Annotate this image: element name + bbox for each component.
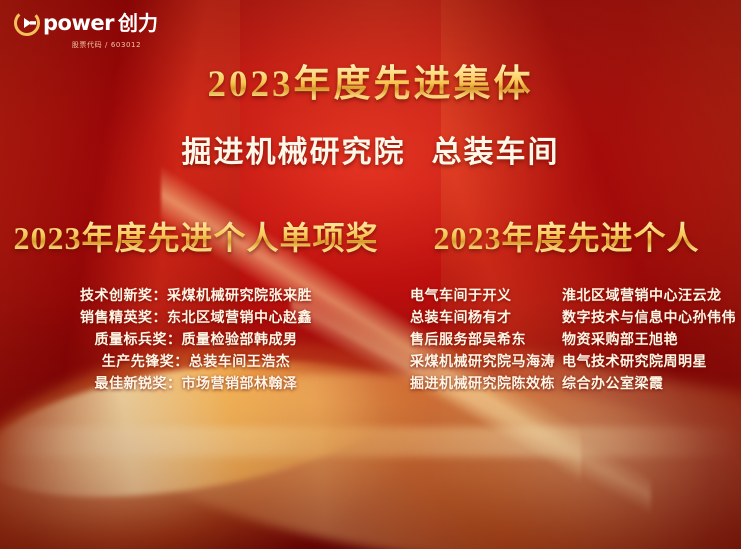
section-heading-special-awards: 2023年度先进个人单项奖	[0, 216, 392, 260]
individual-awards-list: 电气车间于开义 淮北区域营销中心汪云龙 总装车间杨有才 数字技术与信息中心孙伟伟…	[392, 286, 741, 396]
logo-wordmark: power	[43, 10, 114, 36]
winner-name: 物资采购部王旭艳	[562, 330, 741, 352]
award-poster: power 创力 股票代码 / 603012 2023年度先进集体 掘进机械研究…	[0, 0, 741, 549]
table-row: 总装车间杨有才 数字技术与信息中心孙伟伟	[392, 308, 741, 330]
table-row: 售后服务部吴希东 物资采购部王旭艳	[392, 330, 741, 352]
collective-winners: 掘进机械研究院总装车间	[0, 132, 741, 174]
winner-name: 淮北区域营销中心汪云龙	[562, 286, 741, 308]
award-columns: 技术创新奖：采煤机械研究院张来胜 销售精英奖：东北区域营销中心赵鑫 质量标兵奖：…	[0, 286, 741, 396]
winner-name: 售后服务部吴希东	[410, 330, 562, 352]
list-item: 销售精英奖：东北区域营销中心赵鑫	[0, 308, 392, 330]
winner-name: 采煤机械研究院马海涛	[410, 352, 562, 374]
list-item: 技术创新奖：采煤机械研究院张来胜	[0, 286, 392, 308]
table-row: 电气车间于开义 淮北区域营销中心汪云龙	[392, 286, 741, 308]
winner-name: 电气技术研究院周明星	[562, 352, 741, 374]
list-item: 最佳新锐奖：市场营销部林翰泽	[0, 374, 392, 396]
logo-wordmark-cn: 创力	[118, 10, 158, 36]
stock-code: 股票代码 / 603012	[14, 40, 199, 50]
special-awards-list: 技术创新奖：采煤机械研究院张来胜 销售精英奖：东北区域营销中心赵鑫 质量标兵奖：…	[0, 286, 392, 396]
collective-winner-2: 总装车间	[432, 136, 560, 169]
list-item: 质量标兵奖：质量检验部韩成男	[0, 330, 392, 352]
c-power-mark-icon	[14, 10, 40, 36]
logo-row: power 创力	[14, 10, 224, 36]
section-heading-individual-awards: 2023年度先进个人	[392, 216, 741, 260]
page-title: 2023年度先进集体	[0, 62, 741, 108]
winner-name: 掘进机械研究院陈效栋	[410, 374, 562, 396]
section-headings: 2023年度先进个人单项奖 2023年度先进个人	[0, 216, 741, 260]
table-row: 采煤机械研究院马海涛 电气技术研究院周明星	[392, 352, 741, 374]
winner-name: 总装车间杨有才	[410, 308, 562, 330]
winner-name: 电气车间于开义	[410, 286, 562, 308]
table-row: 掘进机械研究院陈效栋 综合办公室梁霞	[392, 374, 741, 396]
winner-name: 综合办公室梁霞	[562, 374, 741, 396]
collective-winner-1: 掘进机械研究院	[182, 136, 406, 169]
winner-name: 数字技术与信息中心孙伟伟	[562, 308, 741, 330]
gold-glow-line	[0, 427, 741, 457]
brand-logo: power 创力 股票代码 / 603012	[14, 10, 224, 50]
list-item: 生产先锋奖：总装车间王浩杰	[0, 352, 392, 374]
